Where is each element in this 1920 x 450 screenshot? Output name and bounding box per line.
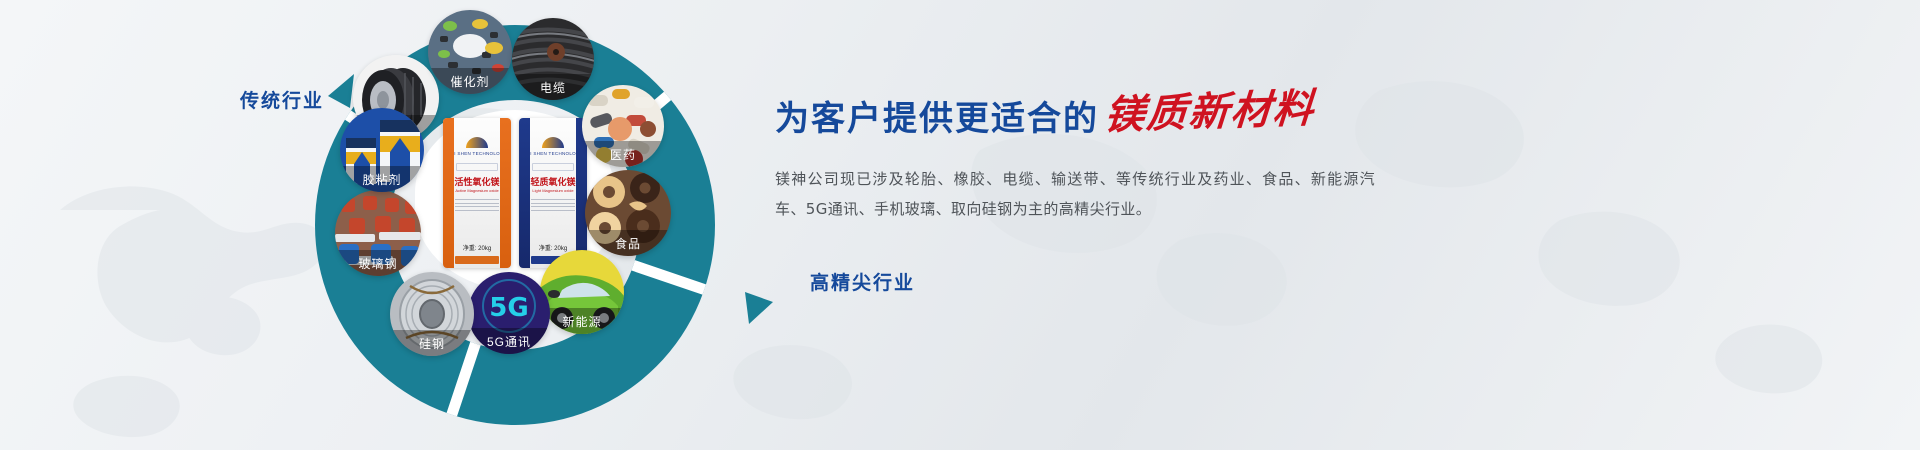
bag-product-name: 轻质氧化镁 Light Magnesium oxide <box>530 178 575 193</box>
industry-node-5g[interactable]: 5G 5G通讯 <box>468 272 550 354</box>
industry-node-adhesive[interactable]: 胶粘剂 <box>340 108 424 192</box>
node-label: 催化剂 <box>428 68 512 94</box>
node-label: 5G通讯 <box>468 328 550 354</box>
bag-net-weight: 净重: 20kg <box>463 243 491 252</box>
label-high-tech-industries: 高精尖行业 <box>810 268 915 295</box>
bag-footer-band <box>455 256 499 264</box>
hero-banner: MEI SHEN TECHNOLOGY 活性氧化镁 Active Magnesi… <box>0 0 1920 450</box>
industry-node-catalyst[interactable]: 催化剂 <box>428 10 512 94</box>
industry-node-new-energy[interactable]: 新能源 <box>540 250 624 334</box>
industry-node-fiberglass[interactable]: 玻璃钢 <box>335 190 421 276</box>
headline-red-text: 镁质新材料 <box>1103 89 1316 136</box>
bag-brand: MEI SHEN TECHNOLOGY <box>523 151 583 156</box>
banner-description: 镁神公司现已涉及轮胎、橡胶、电缆、输送带、等传统行业及药业、食品、新能源汽车、5… <box>775 164 1375 224</box>
industry-node-medicine[interactable]: 医药 <box>582 85 664 167</box>
headline-blue-text: 为客户提供更适合的 <box>775 102 1099 136</box>
bag-stripe-left <box>519 118 530 268</box>
node-label: 新能源 <box>540 308 624 334</box>
node-label: 医药 <box>582 141 664 167</box>
industry-node-food[interactable]: 食品 <box>585 170 671 256</box>
node-label: 硅钢 <box>390 330 474 356</box>
product-bag: MEI SHEN TECHNOLOGY 活性氧化镁 Active Magnesi… <box>443 118 511 268</box>
node-label: 胶粘剂 <box>340 166 424 192</box>
bag-spec-lines <box>531 199 575 213</box>
bag-product-name: 活性氧化镁 Active Magnesium oxide <box>454 178 499 193</box>
svg-text:5G: 5G <box>489 293 528 323</box>
node-label: 玻璃钢 <box>335 250 421 276</box>
label-traditional-industries: 传统行业 <box>240 86 324 113</box>
bag-brand: MEI SHEN TECHNOLOGY <box>447 151 507 156</box>
bag-stripe-right <box>500 118 511 268</box>
brand-logo-icon <box>462 134 492 150</box>
bag-label-slot <box>456 163 498 171</box>
bag-stripe-left <box>443 118 454 268</box>
industry-node-silicon-steel[interactable]: 硅钢 <box>390 272 474 356</box>
bag-label-slot <box>532 163 574 171</box>
brand-logo-icon <box>538 134 568 150</box>
bag-spec-lines <box>455 199 499 213</box>
headline: 为客户提供更适合的 镁质新材料 <box>775 96 1515 136</box>
banner-copy: 为客户提供更适合的 镁质新材料 镁神公司现已涉及轮胎、橡胶、电缆、输送带、等传统… <box>775 96 1515 239</box>
product-bag: MEI SHEN TECHNOLOGY 轻质氧化镁 Light Magnesiu… <box>519 118 587 268</box>
